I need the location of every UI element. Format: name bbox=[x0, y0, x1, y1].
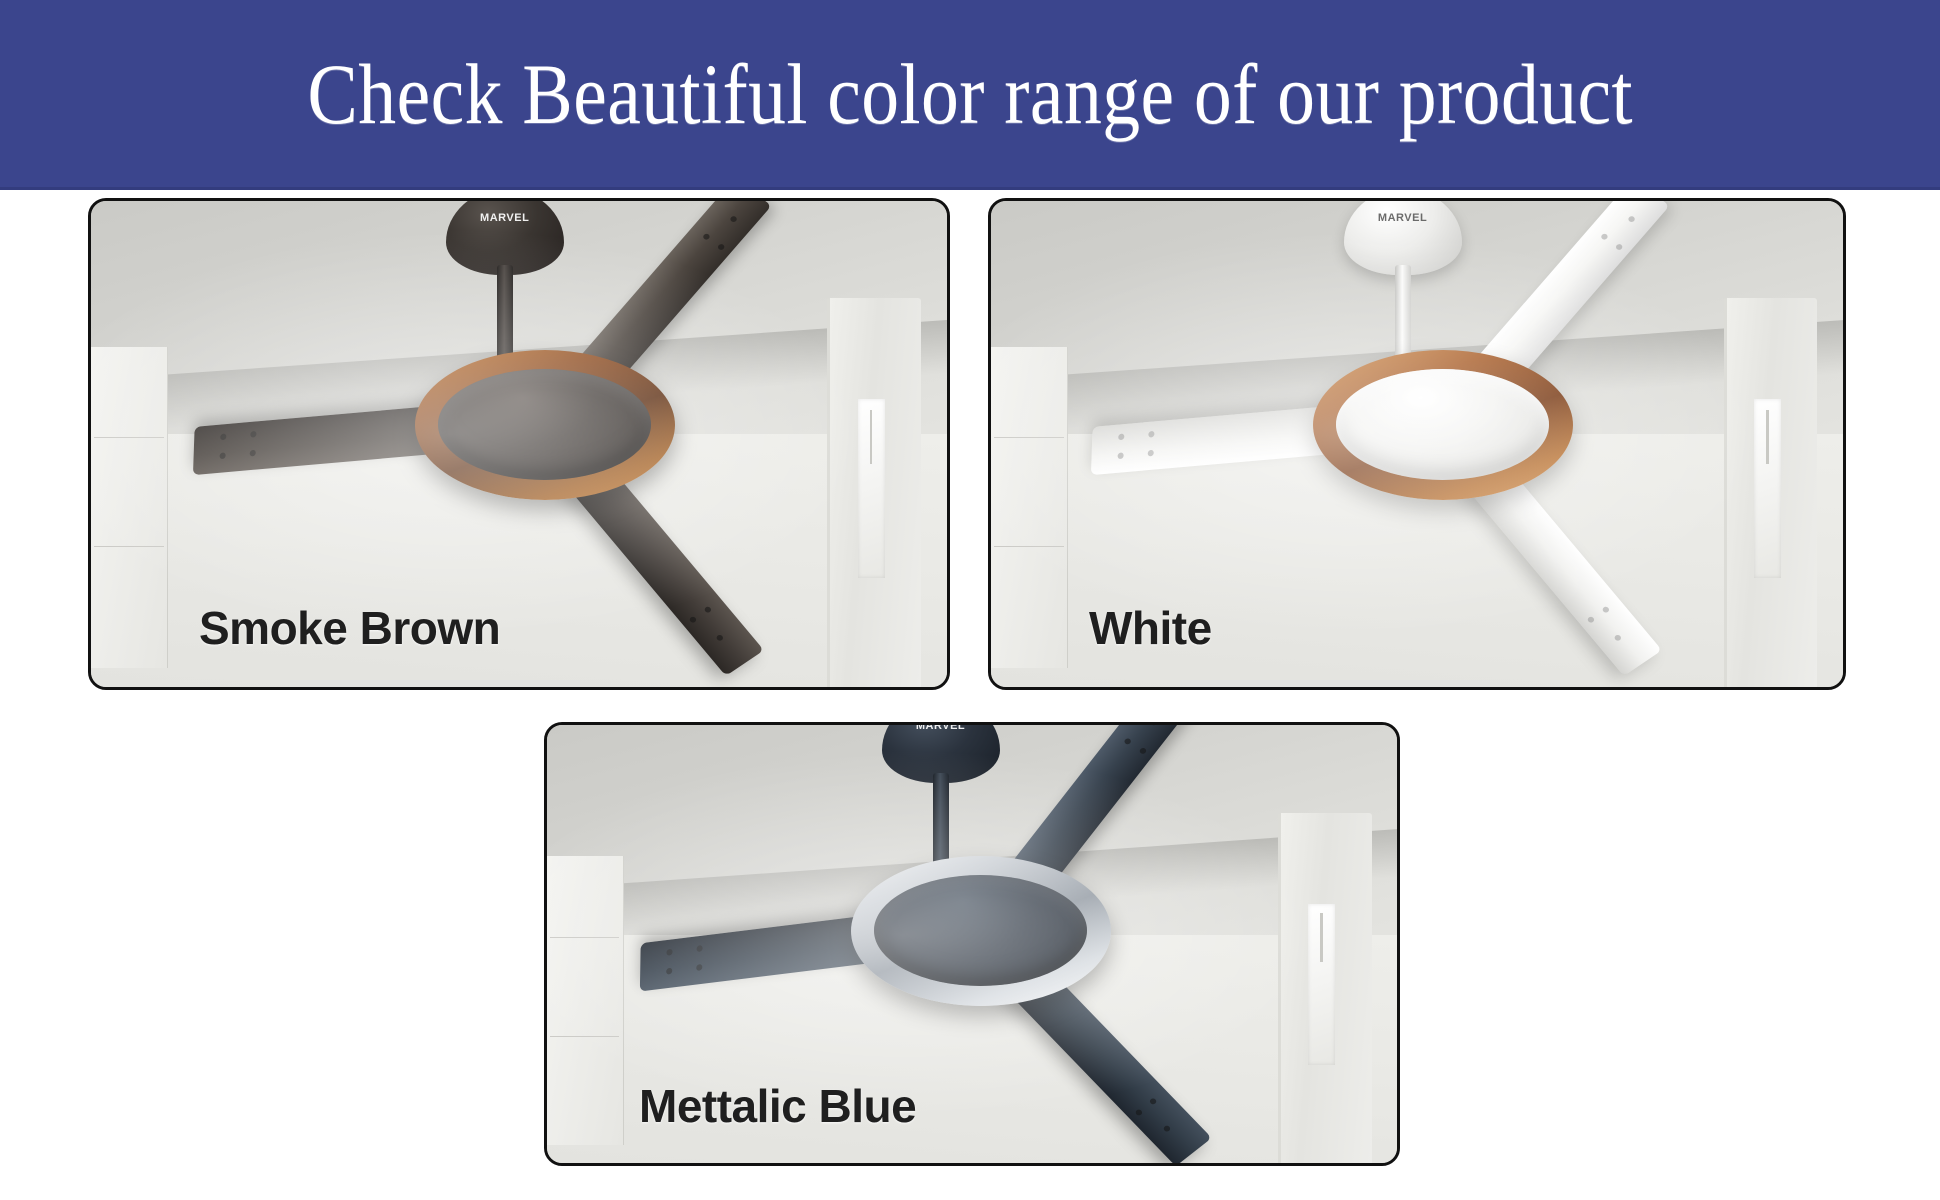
page-header-banner: Check Beautiful color range of our produ… bbox=[0, 0, 1940, 190]
color-range-page: Check Beautiful color range of our produ… bbox=[0, 0, 1940, 1200]
color-card-smoke-brown[interactable]: MARVEL bbox=[88, 198, 950, 690]
page-title: Check Beautiful color range of our produ… bbox=[307, 51, 1633, 137]
color-label-white: White bbox=[1089, 601, 1212, 655]
color-card-white[interactable]: MARVEL bbox=[988, 198, 1846, 690]
color-label-smoke-brown: Smoke Brown bbox=[199, 601, 500, 655]
color-label-mettalic-blue: Mettalic Blue bbox=[639, 1079, 916, 1133]
color-card-grid: MARVEL bbox=[0, 190, 1940, 1200]
color-card-mettalic-blue[interactable]: MARVEL bbox=[544, 722, 1400, 1166]
